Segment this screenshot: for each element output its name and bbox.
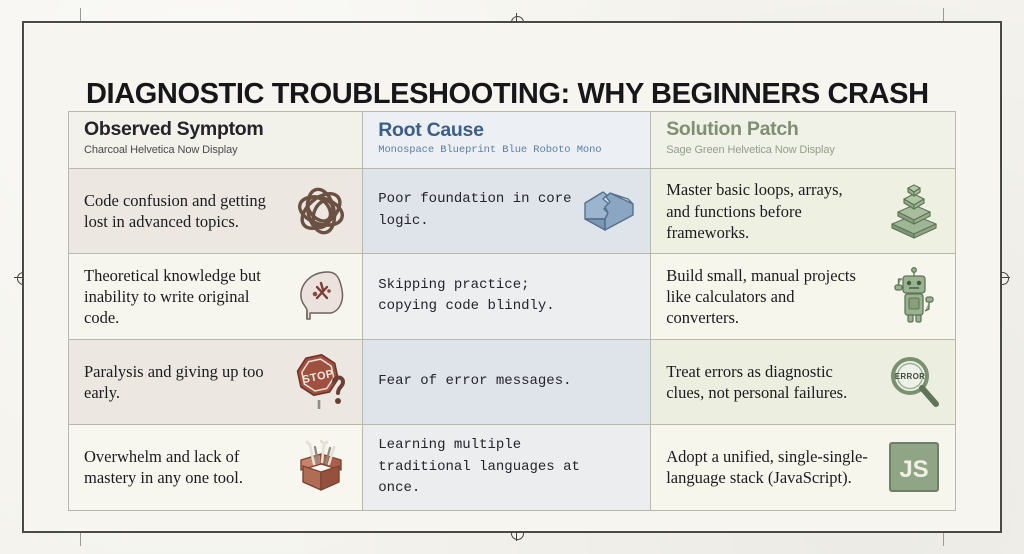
cell-solution: Adopt a unified, single-single-language …: [650, 425, 955, 510]
solution-text: Treat errors as diagnostic clues, not pe…: [666, 361, 869, 403]
head-profile-icon: [290, 265, 352, 327]
poster-canvas: DIAGNOSTIC TROUBLESHOOTING: WHY BEGINNER…: [0, 0, 1024, 554]
stacked-blocks-icon: [883, 180, 945, 242]
solution-text: Adopt a unified, single-single-language …: [666, 446, 869, 488]
solution-text: Build small, manual projects like calcul…: [666, 265, 869, 328]
symptom-text: Theoretical knowledge but inability to w…: [84, 265, 280, 328]
svg-text:ERROR: ERROR: [895, 372, 925, 381]
magnifier-error-icon: ERROR: [883, 351, 945, 413]
poster-frame: DIAGNOSTIC TROUBLESHOOTING: WHY BEGINNER…: [22, 21, 1002, 533]
symptom-text: Overwhelm and lack of mastery in any one…: [84, 446, 280, 488]
cell-symptom: Overwhelm and lack of mastery in any one…: [69, 425, 362, 510]
table-row: Paralysis and giving up too early. STOP: [69, 339, 955, 424]
cell-solution: Build small, manual projects like calcul…: [650, 254, 955, 338]
symptom-text: Code confusion and getting lost in advan…: [84, 190, 280, 232]
cracked-cube-icon: [578, 180, 640, 242]
cell-cause: Learning multiple traditional languages …: [362, 425, 650, 510]
cell-solution: Master basic loops, arrays, and function…: [650, 169, 955, 253]
cell-cause: Skipping practice; copying code blindly.: [362, 254, 650, 338]
cell-cause: Fear of error messages.: [362, 340, 650, 424]
symptom-text: Paralysis and giving up too early.: [84, 361, 280, 403]
column-header-subtitle: Sage Green Helvetica Now Display: [666, 144, 835, 156]
cause-text: Poor foundation in core logic.: [378, 189, 595, 232]
cell-symptom: Paralysis and giving up too early. STOP: [69, 340, 362, 424]
cell-solution: Treat errors as diagnostic clues, not pe…: [650, 340, 955, 424]
diagnostic-table: Observed Symptom Charcoal Helvetica Now …: [68, 111, 956, 511]
column-header-root-cause: Root Cause Monospace Blueprint Blue Robo…: [362, 112, 650, 168]
column-header-observed-symptom: Observed Symptom Charcoal Helvetica Now …: [69, 112, 362, 168]
js-badge-label: JS: [899, 456, 928, 483]
cause-text: Skipping practice; copying code blindly.: [378, 275, 595, 318]
cause-text: Fear of error messages.: [378, 371, 571, 393]
table-row: Theoretical knowledge but inability to w…: [69, 253, 955, 338]
cell-symptom: Code confusion and getting lost in advan…: [69, 169, 362, 253]
column-header-title: Solution Patch: [666, 119, 835, 141]
cell-cause: Poor foundation in core logic.: [362, 169, 650, 253]
toolbox-box-icon: [290, 436, 352, 498]
robot-icon: [883, 265, 945, 327]
column-header-subtitle: Monospace Blueprint Blue Roboto Mono: [378, 145, 601, 157]
column-header-subtitle: Charcoal Helvetica Now Display: [84, 144, 263, 156]
cell-symptom: Theoretical knowledge but inability to w…: [69, 254, 362, 338]
table-row: Overwhelm and lack of mastery in any one…: [69, 424, 955, 510]
page-title: DIAGNOSTIC TROUBLESHOOTING: WHY BEGINNER…: [86, 78, 938, 111]
table-row: Code confusion and getting lost in advan…: [69, 168, 955, 253]
tangled-knot-icon: [290, 180, 352, 242]
js-badge-icon: JS: [883, 436, 945, 498]
solution-text: Master basic loops, arrays, and function…: [666, 179, 869, 242]
column-header-title: Root Cause: [378, 120, 601, 142]
cause-text: Learning multiple traditional languages …: [378, 435, 595, 500]
table-header-row: Observed Symptom Charcoal Helvetica Now …: [69, 112, 955, 168]
column-header-solution-patch: Solution Patch Sage Green Helvetica Now …: [650, 112, 955, 168]
stop-sign-question-icon: STOP: [290, 351, 352, 413]
column-header-title: Observed Symptom: [84, 119, 263, 141]
